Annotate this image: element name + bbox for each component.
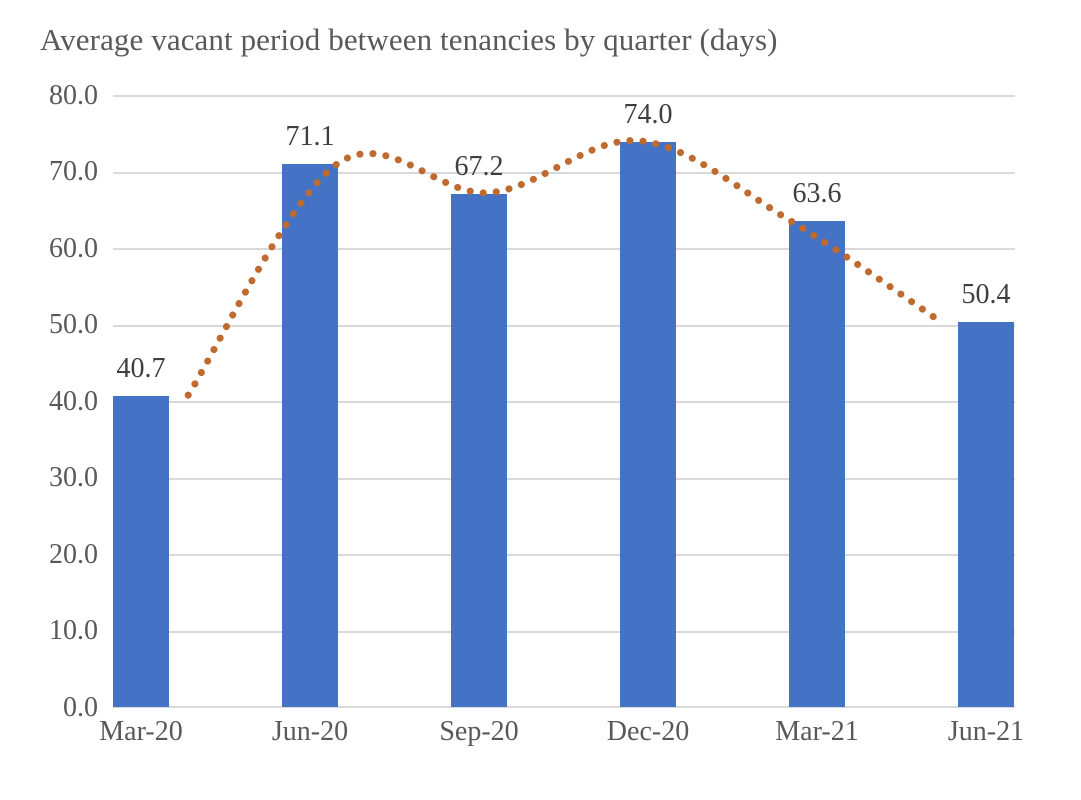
gridline-50 [113,325,1015,327]
bar-mar-21[interactable] [789,221,845,707]
x-tick-label-mar-20: Mar-20 [61,716,221,748]
bar-label-mar-20: 40.7 [91,353,191,385]
bar-jun-21[interactable] [958,322,1014,707]
gridline-10 [113,631,1015,633]
plot-area: 40.7 71.1 67.2 74.0 63.6 50.4 [113,95,1015,707]
bar-label-mar-21: 63.6 [767,178,867,210]
gridline-0-baseline [113,706,1015,708]
gridline-60 [113,248,1015,250]
bar-label-jun-21: 50.4 [936,279,1036,311]
y-tick-label-40: 40.0 [0,386,98,418]
x-tick-label-dec-20: Dec-20 [568,716,728,748]
y-tick-label-60: 60.0 [0,233,98,265]
bar-label-jun-20: 71.1 [260,121,360,153]
chart-container: Average vacant period between tenancies … [0,0,1081,800]
x-tick-label-sep-20: Sep-20 [399,716,559,748]
gridline-80 [113,95,1015,97]
x-tick-label-jun-20: Jun-20 [230,716,390,748]
bar-sep-20[interactable] [451,194,507,707]
bar-dec-20[interactable] [620,142,676,707]
chart-title: Average vacant period between tenancies … [40,22,778,58]
y-tick-label-30: 30.0 [0,462,98,494]
gridline-30 [113,478,1015,480]
y-tick-label-50: 50.0 [0,309,98,341]
y-tick-label-10: 10.0 [0,615,98,647]
y-tick-label-80: 80.0 [0,80,98,112]
gridline-40 [113,401,1015,403]
y-tick-label-20: 20.0 [0,539,98,571]
bar-label-dec-20: 74.0 [598,99,698,131]
x-tick-label-mar-21: Mar-21 [737,716,897,748]
bar-mar-20[interactable] [113,396,169,707]
x-tick-label-jun-21: Jun-21 [906,716,1066,748]
gridline-70 [113,172,1015,174]
gridline-20 [113,554,1015,556]
y-tick-label-70: 70.0 [0,156,98,188]
bar-label-sep-20: 67.2 [429,151,529,183]
bar-jun-20[interactable] [282,164,338,707]
